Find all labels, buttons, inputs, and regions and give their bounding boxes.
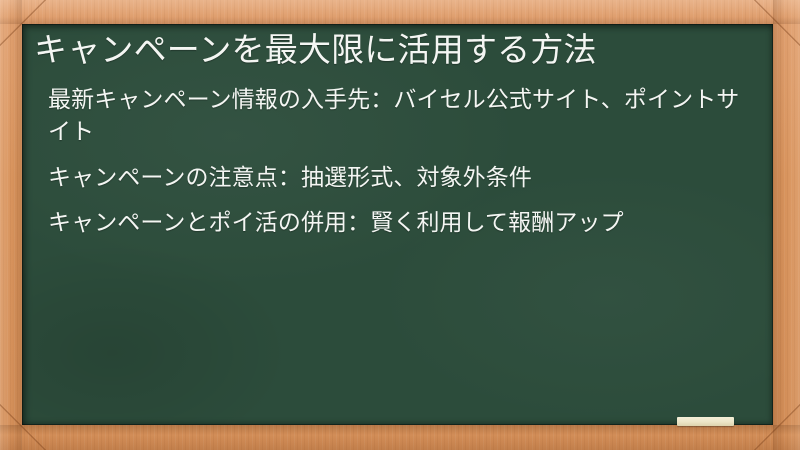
board-title: キャンペーンを最大限に活用する方法 <box>34 30 747 70</box>
board-bullet-list: 最新キャンペーン情報の入手先：バイセル公式サイト、ポイントサイト キャンペーンの… <box>48 84 747 239</box>
chalk-stick <box>677 417 734 426</box>
board-bullet-item: キャンペーンとポイ活の併用：賢く利用して報酬アップ <box>48 207 747 239</box>
chalkboard-surface: キャンペーンを最大限に活用する方法 最新キャンペーン情報の入手先：バイセル公式サ… <box>22 24 773 425</box>
board-bullet-item: 最新キャンペーン情報の入手先：バイセル公式サイト、ポイントサイト <box>48 84 747 147</box>
chalkboard-content: キャンペーンを最大限に活用する方法 最新キャンペーン情報の入手先：バイセル公式サ… <box>22 24 773 239</box>
frame-top-rail <box>0 0 800 24</box>
frame-right-rail <box>773 0 800 450</box>
chalkboard-wooden-frame: キャンペーンを最大限に活用する方法 最新キャンペーン情報の入手先：バイセル公式サ… <box>0 0 800 450</box>
frame-bottom-rail <box>0 425 800 450</box>
frame-left-rail <box>0 0 22 450</box>
board-bullet-item: キャンペーンの注意点：抽選形式、対象外条件 <box>48 162 747 194</box>
